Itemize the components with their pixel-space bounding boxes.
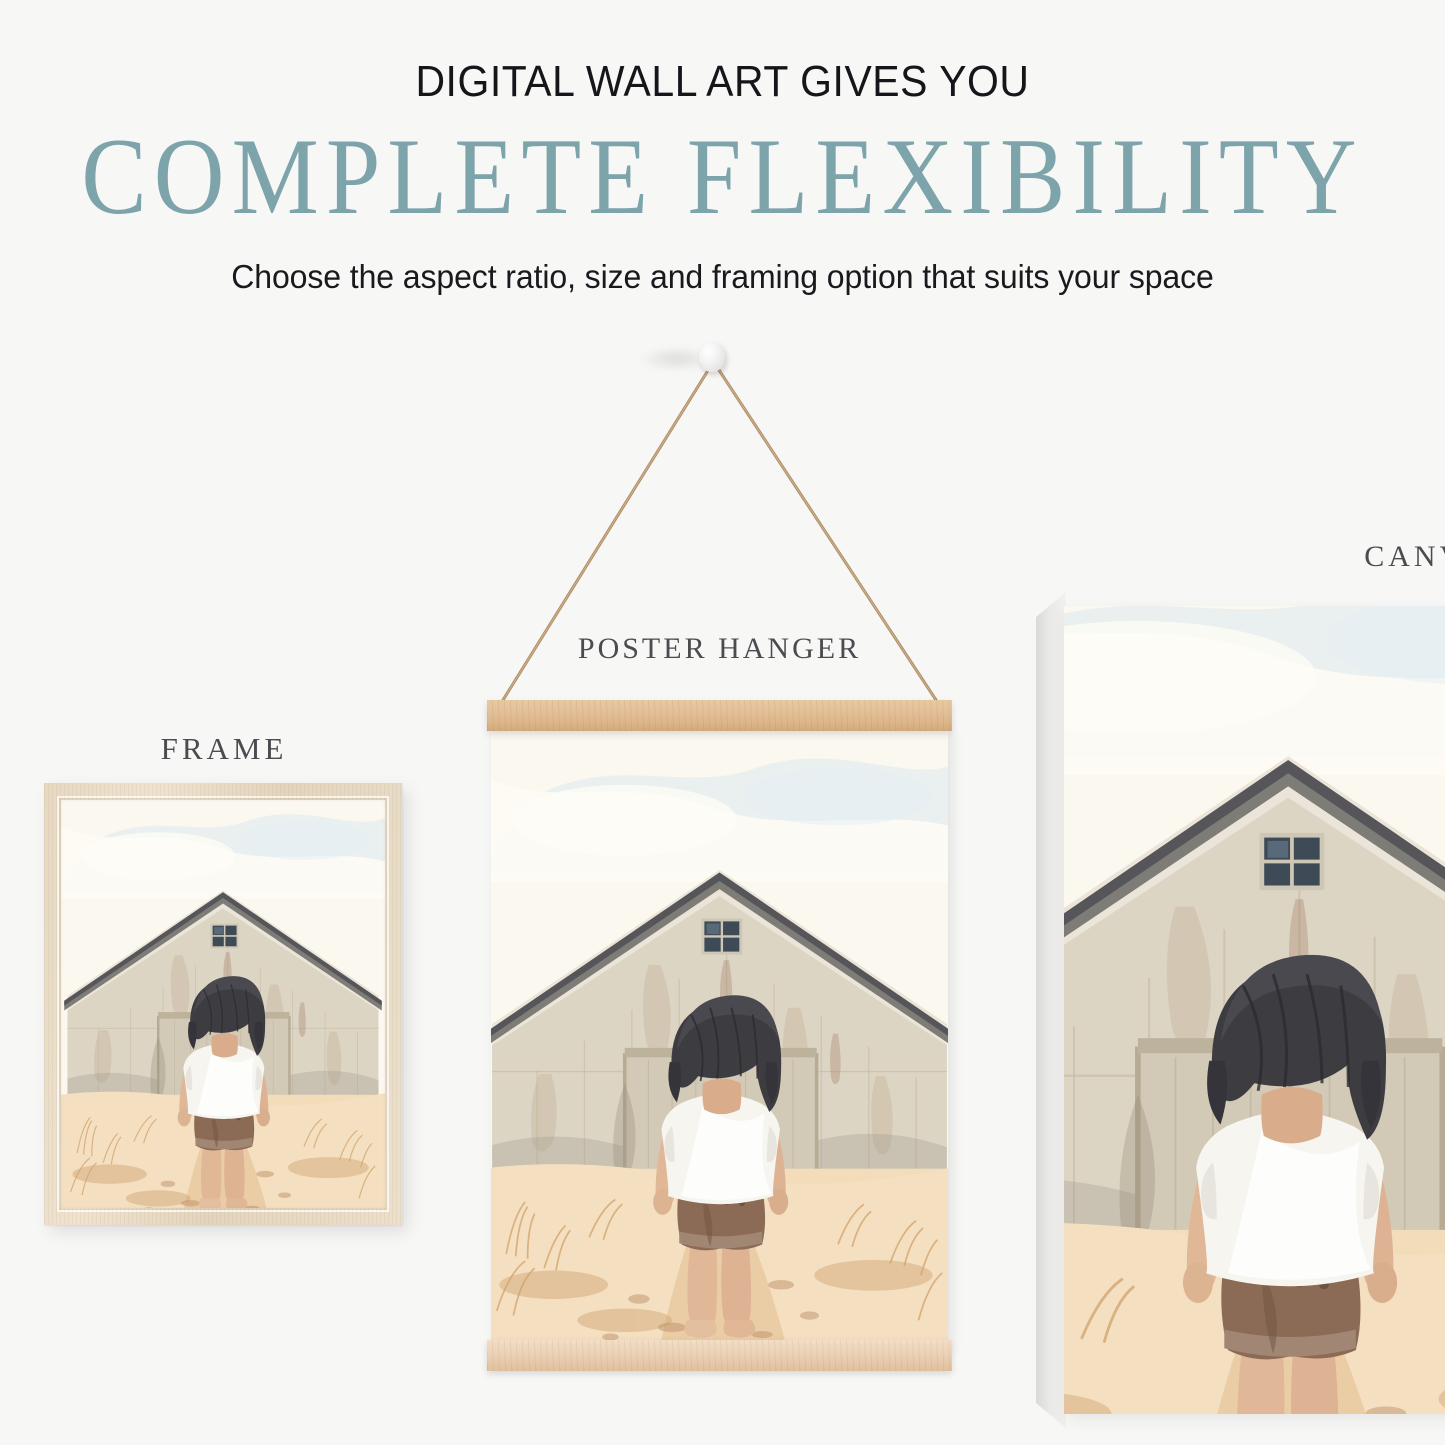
artwork-poster — [491, 728, 948, 1344]
hanger-bar-top[interactable] — [487, 700, 952, 731]
artwork-framed — [61, 800, 385, 1208]
hanger-bar-bottom[interactable] — [487, 1340, 952, 1371]
artwork-canvas — [1064, 606, 1445, 1414]
frame-label: FRAME — [44, 731, 404, 767]
header: DIGITAL WALL ART GIVES YOU COMPLETE FLEX… — [0, 0, 1445, 296]
header-eyebrow: DIGITAL WALL ART GIVES YOU — [51, 58, 1395, 106]
wall-hook-icon — [699, 342, 725, 372]
product-canvas[interactable]: CANVAS — [1036, 540, 1445, 1428]
picture-frame[interactable] — [44, 783, 402, 1225]
product-frame[interactable]: FRAME — [44, 731, 404, 1225]
page-title: COMPLETE FLEXIBILITY — [0, 116, 1445, 236]
canvas-depth-edge — [1036, 592, 1066, 1428]
header-subhead: Choose the aspect ratio, size and framin… — [22, 258, 1424, 296]
poster-hanger-label: POSTER HANGER — [487, 632, 952, 666]
canvas-label: CANVAS — [1236, 540, 1445, 574]
